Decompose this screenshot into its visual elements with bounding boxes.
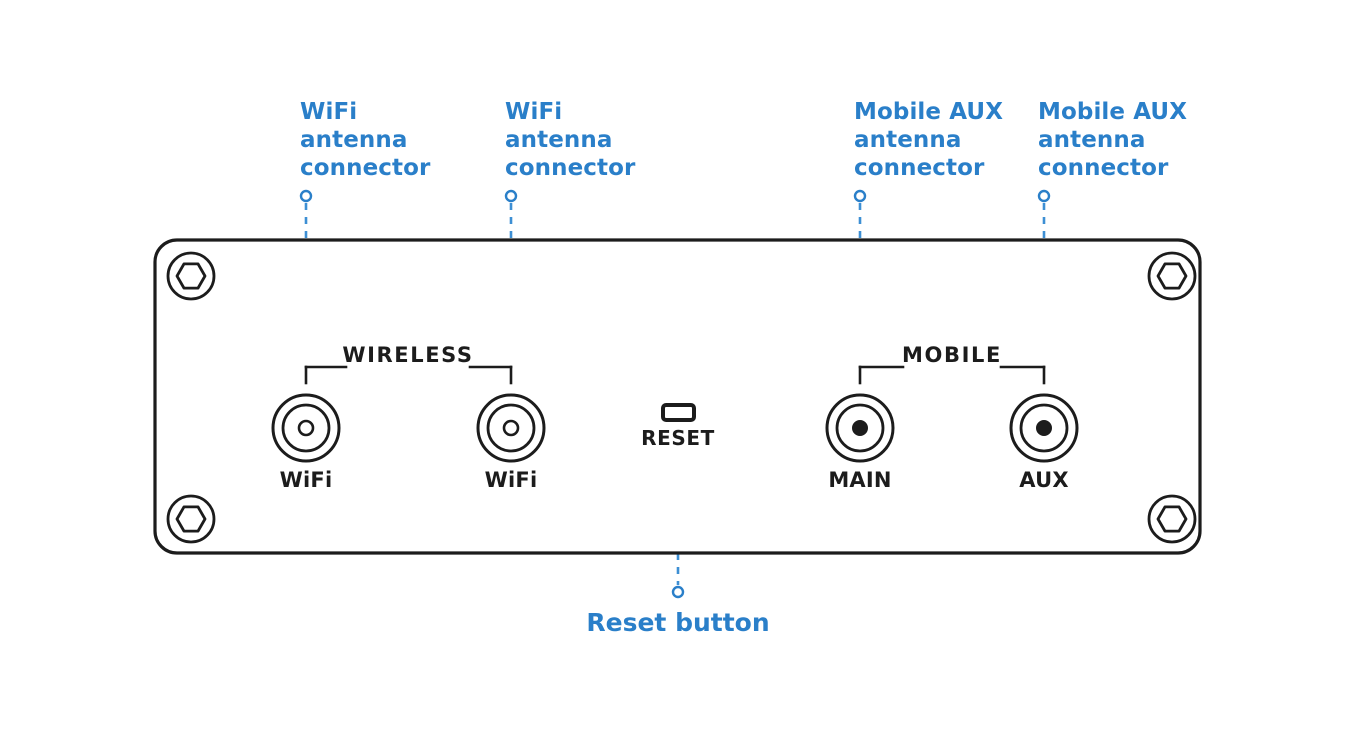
reset-button-label: RESET [641, 426, 715, 450]
connector-label-wifi-1: WiFi [280, 468, 333, 492]
callout-label-wifi-antenna-connector-2: WiFi antenna connector [505, 98, 635, 182]
leader-endpoint-wifi-antenna-connector-1 [301, 191, 311, 201]
connector-label-aux: AUX [1019, 468, 1068, 492]
reset-button-shape[interactable] [663, 405, 694, 420]
connector-mobile-main[interactable] [827, 395, 893, 461]
leader-endpoint-reset-button-callout [673, 587, 683, 597]
connector-center-pin [504, 421, 518, 435]
callout-label-reset-button: Reset button [586, 608, 769, 638]
group-label-mobile: MOBILE [902, 343, 1002, 367]
reset-button-rect[interactable] [663, 405, 694, 420]
callout-label-mobile-aux-antenna-connector-1: Mobile AUX antenna connector [854, 98, 1003, 182]
connector-wifi-2[interactable] [478, 395, 544, 461]
connector-mobile-aux[interactable] [1011, 395, 1077, 461]
diagram-canvas: WiFi antenna connector WiFi antenna conn… [0, 0, 1370, 756]
leader-endpoint-mobile-aux-antenna-connector-1 [855, 191, 865, 201]
connector-wifi-1[interactable] [273, 395, 339, 461]
leader-endpoint-wifi-antenna-connector-2 [506, 191, 516, 201]
callout-label-wifi-antenna-connector-1: WiFi antenna connector [300, 98, 430, 182]
connector-label-wifi-2: WiFi [485, 468, 538, 492]
connector-center-pin [853, 421, 867, 435]
leader-endpoint-mobile-aux-antenna-connector-2 [1039, 191, 1049, 201]
group-label-wireless: WIRELESS [342, 343, 473, 367]
connector-center-pin [299, 421, 313, 435]
connector-label-main: MAIN [828, 468, 891, 492]
connector-center-pin [1037, 421, 1051, 435]
callout-label-mobile-aux-antenna-connector-2: Mobile AUX antenna connector [1038, 98, 1187, 182]
